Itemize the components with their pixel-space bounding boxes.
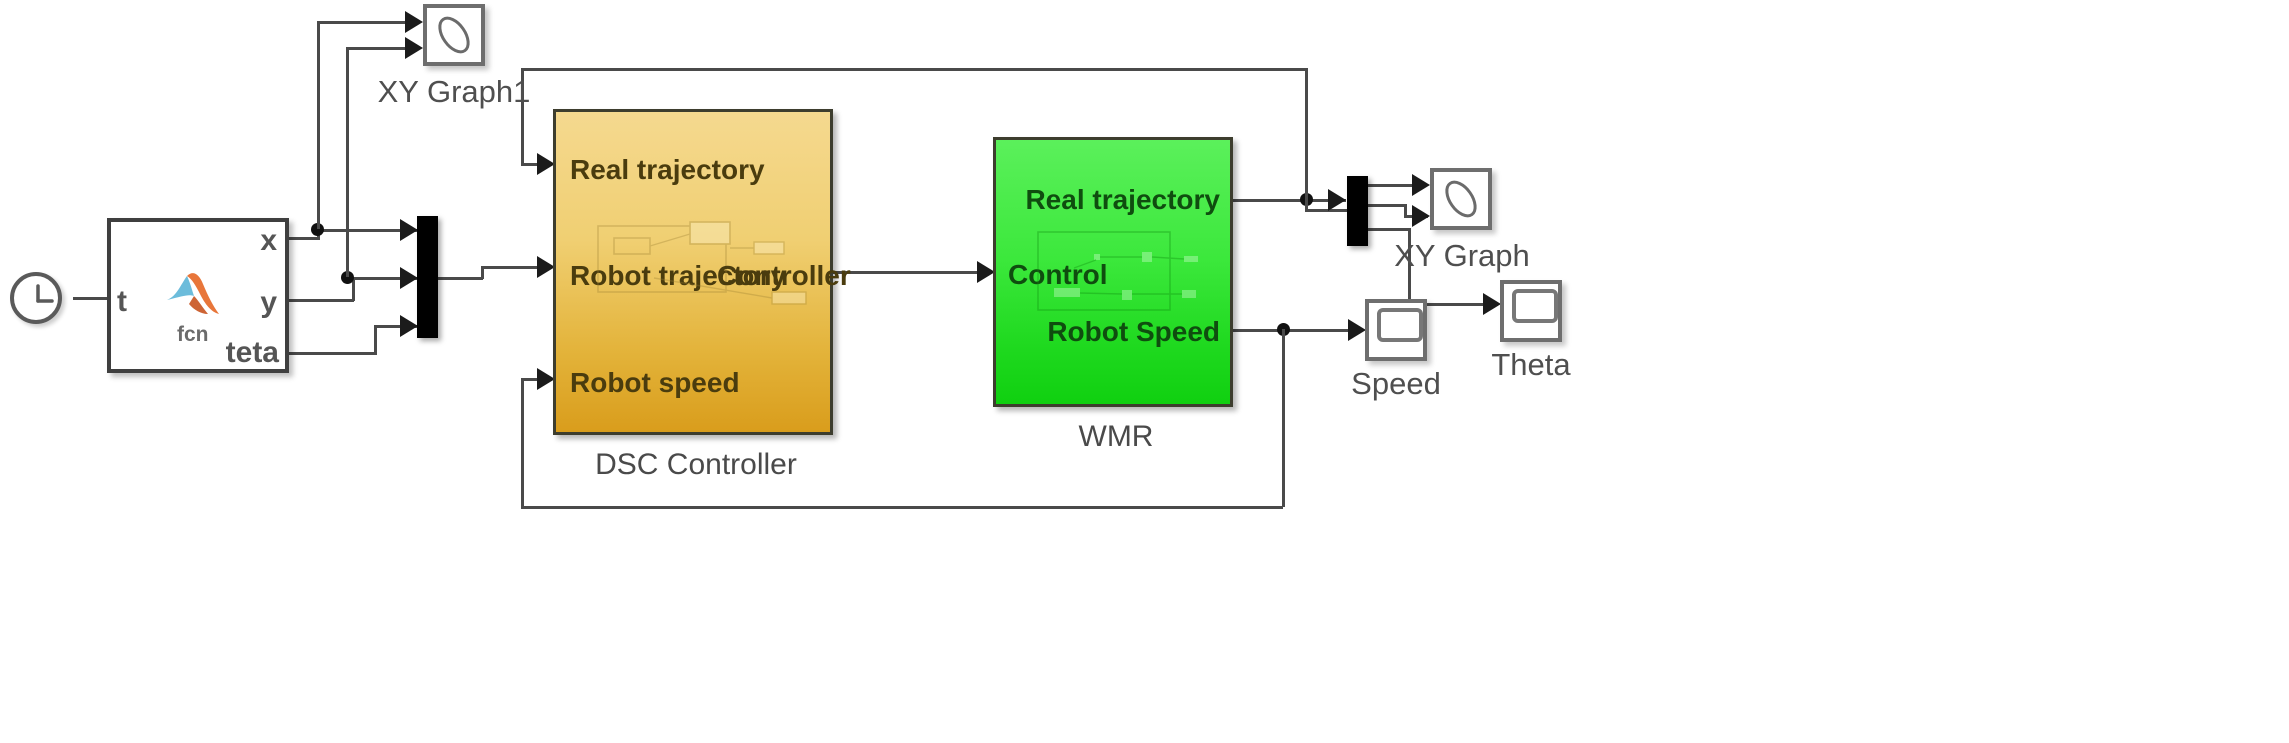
xy-graph-block[interactable]: [1430, 168, 1492, 230]
arrow-xygraph-in2: [1412, 205, 1430, 227]
wire-dsc-robotspeed-riser: [521, 378, 524, 509]
wmr-label: WMR: [996, 420, 1236, 454]
wire-y-to-xygraph1-v: [346, 47, 349, 277]
wmr-subsystem-preview-icon: [1034, 228, 1224, 348]
dsc-input-real-trajectory: Real trajectory: [570, 154, 765, 186]
wire-dsc-robotspeed-bottom: [521, 506, 1283, 509]
wire-realtraj-up: [1305, 68, 1308, 199]
clock-icon: [14, 276, 66, 328]
wire-demux-out3a: [1368, 228, 1410, 231]
wire-wmr-robotspeed-out: [1233, 329, 1360, 332]
fcn-output-label-y: y: [260, 286, 277, 320]
wire-teta-out: [288, 352, 377, 355]
arrow-theta-scope-in: [1483, 293, 1501, 315]
matlab-fcn-icon: [163, 270, 223, 328]
matlab-fcn-icon-caption: fcn: [177, 323, 209, 347]
wire-dsc-to-wmr: [833, 271, 992, 274]
wire-x-to-xygraph1-v: [317, 21, 320, 229]
arrow-mux-in3: [400, 315, 418, 337]
simulink-canvas: t x y teta fcn Real trajectory Robot tra…: [0, 0, 2289, 743]
arrow-mux-in2: [400, 267, 418, 289]
speed-scope-block[interactable]: [1365, 299, 1427, 361]
wmr-block[interactable]: Real trajectory Control Robot Speed WMR: [993, 137, 1233, 407]
wire-x-to-xygraph1-h: [317, 21, 417, 24]
scope-icon: [1377, 308, 1423, 342]
xy-graph-ellipse-icon: [427, 8, 481, 62]
xy-graph-label: XY Graph: [1372, 238, 1552, 274]
demux-block[interactable]: [1347, 176, 1368, 246]
arrow-xygraph1-in1: [405, 11, 423, 33]
wire-y-out: [288, 299, 354, 302]
dsc-controller-block[interactable]: Real trajectory Robot trajectory Robot s…: [553, 109, 833, 435]
mux-block[interactable]: [417, 216, 438, 338]
arrow-mux-in1: [400, 219, 418, 241]
wire-dsc-realtraj-top: [521, 68, 1306, 71]
dsc-overlay-controller-text: Controller: [717, 260, 851, 292]
arrow-demux-in: [1328, 189, 1346, 211]
theta-scope-label: Theta: [1441, 347, 1621, 383]
fcn-output-label-teta: teta: [226, 336, 279, 370]
clock-source[interactable]: [10, 272, 62, 324]
scope-icon: [1512, 289, 1558, 323]
theta-scope-block[interactable]: [1500, 280, 1562, 342]
dsc-controller-label: DSC Controller: [556, 448, 836, 482]
fcn-output-label-x: x: [260, 224, 277, 258]
xy-graph-ellipse-icon: [1434, 172, 1488, 226]
xy-graph1-label: XY Graph1: [364, 74, 544, 110]
wire-teta-riser: [374, 325, 377, 355]
matlab-function-block[interactable]: t x y teta fcn: [107, 218, 289, 373]
arrow-speed-scope-in: [1348, 319, 1366, 341]
wire-demux-out2a: [1368, 204, 1406, 207]
wmr-output-real-trajectory: Real trajectory: [1025, 184, 1220, 216]
arrow-xygraph-in1: [1412, 174, 1430, 196]
wire-x-out: [288, 237, 320, 240]
wire-robotspeed-down: [1282, 329, 1285, 507]
fcn-input-label-t: t: [117, 285, 127, 319]
xy-graph1-block[interactable]: [423, 4, 485, 66]
dsc-input-robot-speed: Robot speed: [570, 367, 740, 399]
arrow-xygraph1-in2: [405, 37, 423, 59]
